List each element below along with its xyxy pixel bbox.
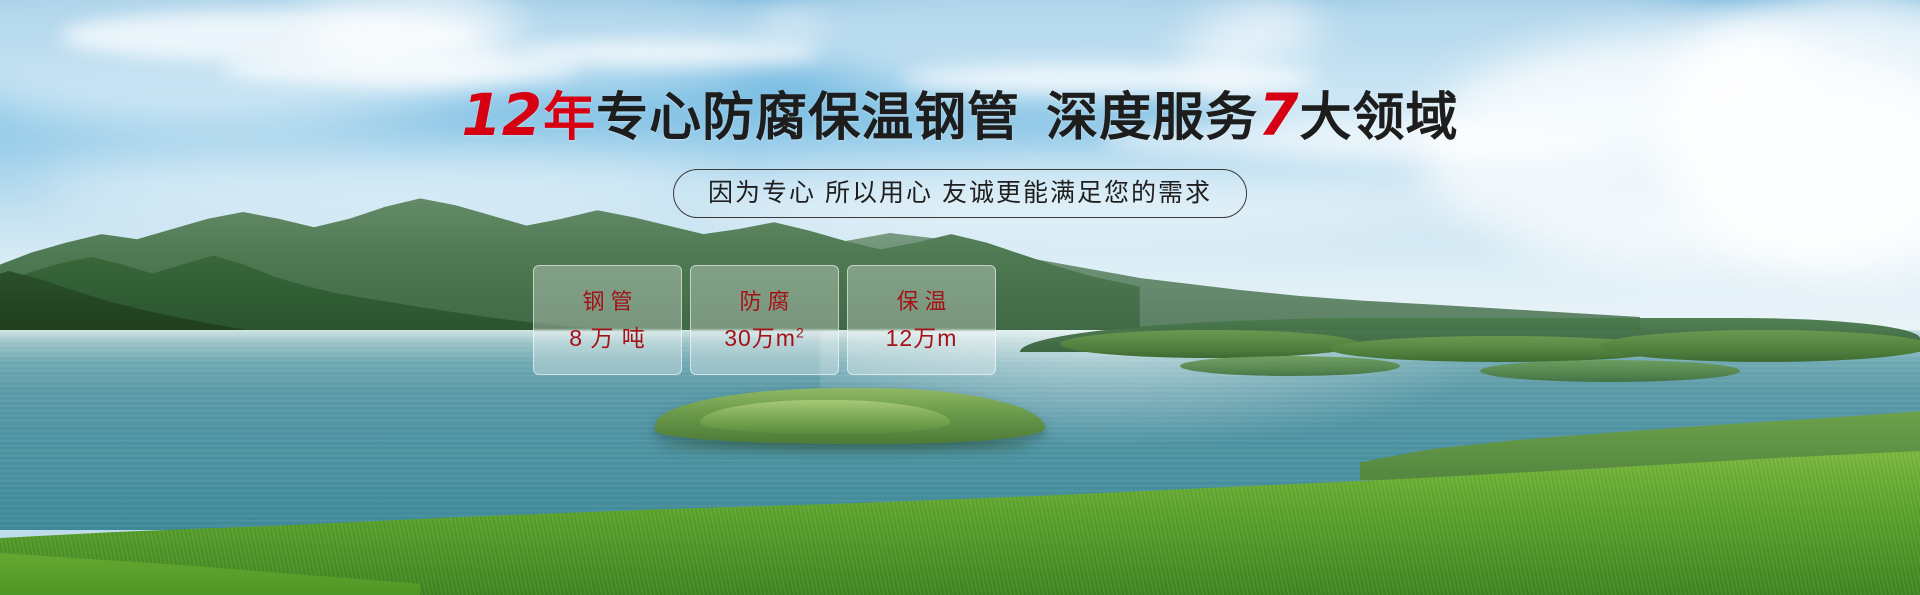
marsh-patch bbox=[1060, 330, 1360, 358]
hero-banner: 12年专心防腐保温钢管深度服务7大领域 因为专心 所以用心 友诚更能满足您的需求… bbox=[0, 0, 1920, 595]
headline-fields-number: 7 bbox=[1258, 81, 1299, 149]
marsh-patch bbox=[1600, 330, 1920, 362]
stat-value: 8 万 吨 bbox=[569, 326, 646, 351]
stat-value: 12万m bbox=[886, 326, 958, 351]
stat-value: 30万m2 bbox=[724, 326, 805, 351]
stat-card-steel-pipe[interactable]: 钢管 8 万 吨 bbox=[533, 265, 682, 375]
headline-years-number: 12 bbox=[461, 81, 543, 149]
marsh-patch bbox=[1480, 360, 1740, 382]
marsh-patch bbox=[1180, 356, 1400, 376]
slogan-pill: 因为专心 所以用心 友诚更能满足您的需求 bbox=[673, 169, 1247, 218]
page-title: 12年专心防腐保温钢管深度服务7大领域 bbox=[0, 86, 1920, 147]
stat-card-anticorrosion[interactable]: 防腐 30万m2 bbox=[690, 265, 839, 375]
stat-card-insulation[interactable]: 保温 12万m bbox=[847, 265, 996, 375]
headline-main-text: 专心防腐保温钢管 bbox=[596, 88, 1020, 148]
stat-label: 防腐 bbox=[733, 290, 795, 314]
headline-service-text: 深度服务 bbox=[1046, 88, 1258, 148]
stat-label: 保温 bbox=[890, 290, 952, 314]
headline-years-unit: 年 bbox=[543, 88, 596, 148]
stat-card-group: 钢管 8 万 吨 防腐 30万m2 保温 12万m bbox=[533, 265, 996, 375]
stat-unit-superscript: 2 bbox=[796, 324, 805, 340]
stat-label: 钢管 bbox=[576, 290, 638, 314]
headline-fields-text: 大领域 bbox=[1300, 88, 1459, 148]
